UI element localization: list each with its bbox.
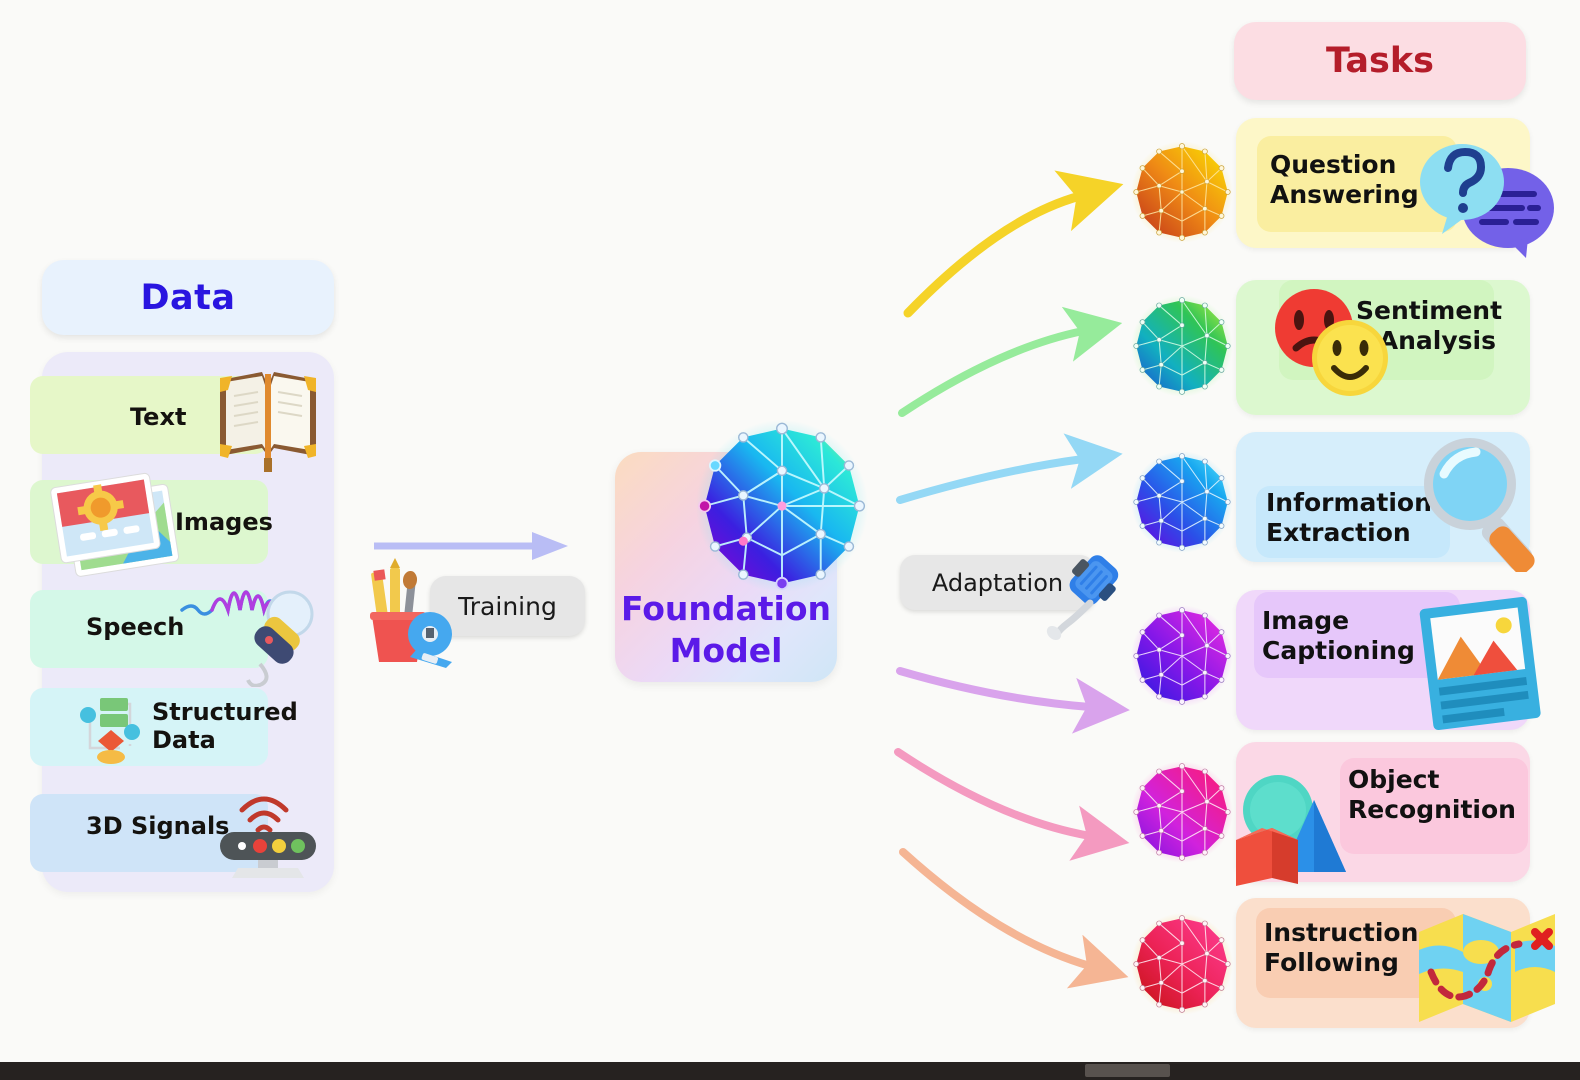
horizontal-scrollbar[interactable] [0,1062,1580,1080]
purple-magenta-network-sphere [1130,604,1234,708]
tasks-header-label: Tasks [1326,41,1434,81]
task-label-object-recognition: Object Recognition [1348,765,1516,825]
3d-shapes-icon [1226,762,1356,887]
blue-violet-network-sphere [1130,450,1234,554]
green-teal-network-sphere [1130,294,1234,398]
data-section-header: Data [42,260,334,335]
flowchart-icon [72,686,154,768]
foundation-model-label: Foundation Model [615,588,837,672]
open-book-icon [198,352,338,472]
orange-yellow-network-sphere [1130,140,1234,244]
data-item-speech-label: Speech [86,613,184,641]
data-item-images-label: Images [175,508,273,536]
task-label-instruction-following: Instruction Following [1264,918,1418,978]
magenta-pink-network-sphere [1130,760,1234,864]
data-item-3d-signals-label: 3D Signals [86,812,229,840]
photos-icon [48,462,183,587]
network-sphere-icon [694,418,870,594]
magnifying-glass-icon [1408,432,1558,572]
training-label: Training [458,592,557,621]
treasure-map-icon [1415,900,1560,1030]
speech-bubbles-question-icon [1410,134,1555,259]
microphone-wave-icon [178,572,323,687]
data-item-text-label: Text [130,403,186,431]
task-label-question-answering: Question Answering [1270,150,1419,210]
diagram-canvas: Data Text Images [0,0,1580,1080]
data-header-label: Data [140,278,235,318]
tasks-section-header: Tasks [1234,22,1526,100]
sad-happy-faces-icon [1258,282,1398,402]
picture-caption-icon [1412,592,1557,732]
pencil-cup-ruler-icon [360,558,470,668]
data-item-structured-data-label: Structured Data [152,698,298,755]
task-label-image-captioning: Image Captioning [1262,606,1415,666]
horizontal-scrollbar-thumb[interactable] [1085,1064,1170,1077]
screwdriver-icon [1030,545,1130,640]
red-pink-network-sphere [1130,912,1234,1016]
